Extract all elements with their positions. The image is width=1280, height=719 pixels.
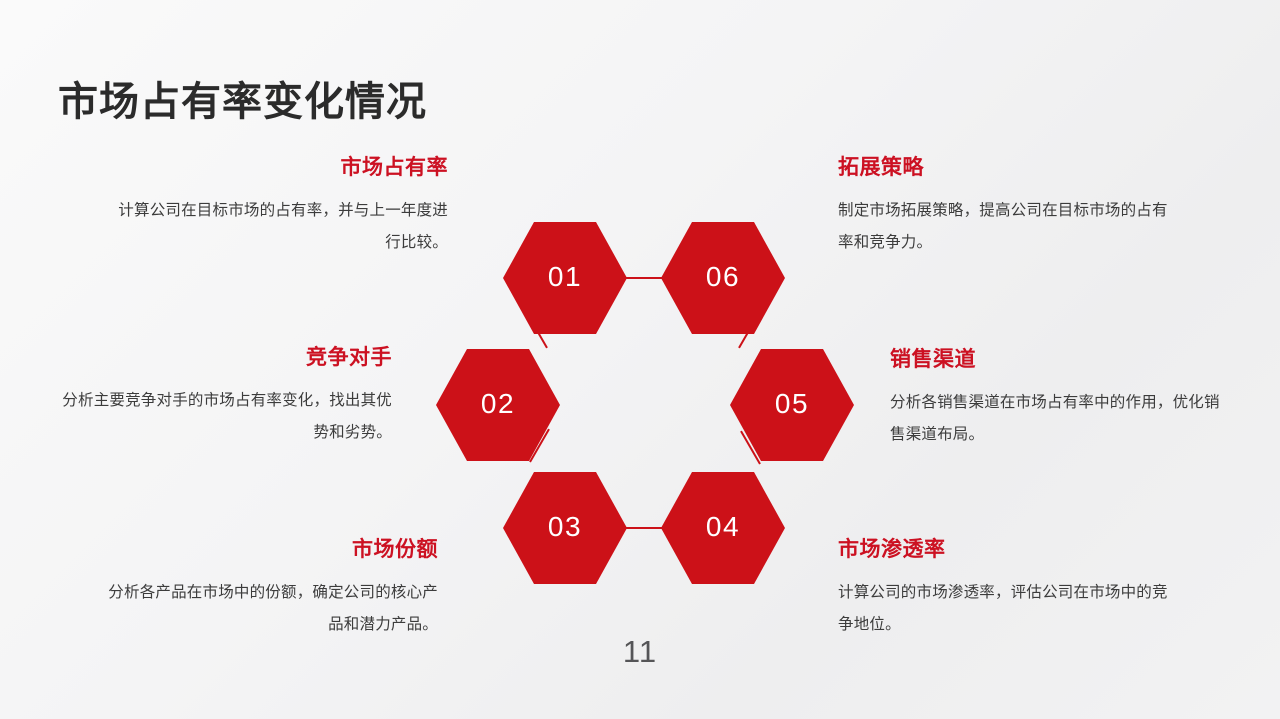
hexagon-diagram: 01 06 02 05 03 04 [430,215,860,593]
info-body-06: 制定市场拓展策略，提高公司在目标市场的占有率和竞争力。 [838,195,1178,259]
hexagon-number-02: 02 [481,390,515,418]
info-heading-01: 市场占有率 [108,155,448,181]
page-number: 11 [0,636,1280,667]
hexagon-number-04: 04 [706,513,740,541]
info-body-05: 分析各销售渠道在市场占有率中的作用，优化销售渠道布局。 [890,387,1230,451]
info-heading-03: 市场份额 [98,537,438,563]
info-block-05: 销售渠道 分析各销售渠道在市场占有率中的作用，优化销售渠道布局。 [890,347,1230,451]
slide-canvas: 市场占有率变化情况 市场占有率 计算公司在目标市场的占有率，并与上一年度进行比较… [0,0,1280,719]
info-heading-06: 拓展策略 [838,155,1178,181]
hexagon-number-01: 01 [548,263,582,291]
hexagon-number-06: 06 [706,263,740,291]
info-block-04: 市场渗透率 计算公司的市场渗透率，评估公司在市场中的竞争地位。 [838,537,1178,641]
hexagon-06[interactable]: 06 [661,222,785,334]
info-block-03: 市场份额 分析各产品在市场中的份额，确定公司的核心产品和潜力产品。 [98,537,438,641]
hexagon-04[interactable]: 04 [661,472,785,584]
hexagon-01[interactable]: 01 [503,222,627,334]
info-heading-02: 竞争对手 [52,345,392,371]
info-body-03: 分析各产品在市场中的份额，确定公司的核心产品和潜力产品。 [98,577,438,641]
hexagon-number-05: 05 [775,390,809,418]
hexagon-03[interactable]: 03 [503,472,627,584]
hexagon-number-03: 03 [548,513,582,541]
connector-line-01-06 [625,277,665,279]
info-block-06: 拓展策略 制定市场拓展策略，提高公司在目标市场的占有率和竞争力。 [838,155,1178,259]
info-block-02: 竞争对手 分析主要竞争对手的市场占有率变化，找出其优势和劣势。 [52,345,392,449]
info-heading-04: 市场渗透率 [838,537,1178,563]
page-title: 市场占有率变化情况 [58,79,427,125]
info-body-04: 计算公司的市场渗透率，评估公司在市场中的竞争地位。 [838,577,1178,641]
info-body-02: 分析主要竞争对手的市场占有率变化，找出其优势和劣势。 [52,385,392,449]
connector-line-03-04 [625,527,665,529]
info-heading-05: 销售渠道 [890,347,1230,373]
info-block-01: 市场占有率 计算公司在目标市场的占有率，并与上一年度进行比较。 [108,155,448,259]
info-body-01: 计算公司在目标市场的占有率，并与上一年度进行比较。 [108,195,448,259]
